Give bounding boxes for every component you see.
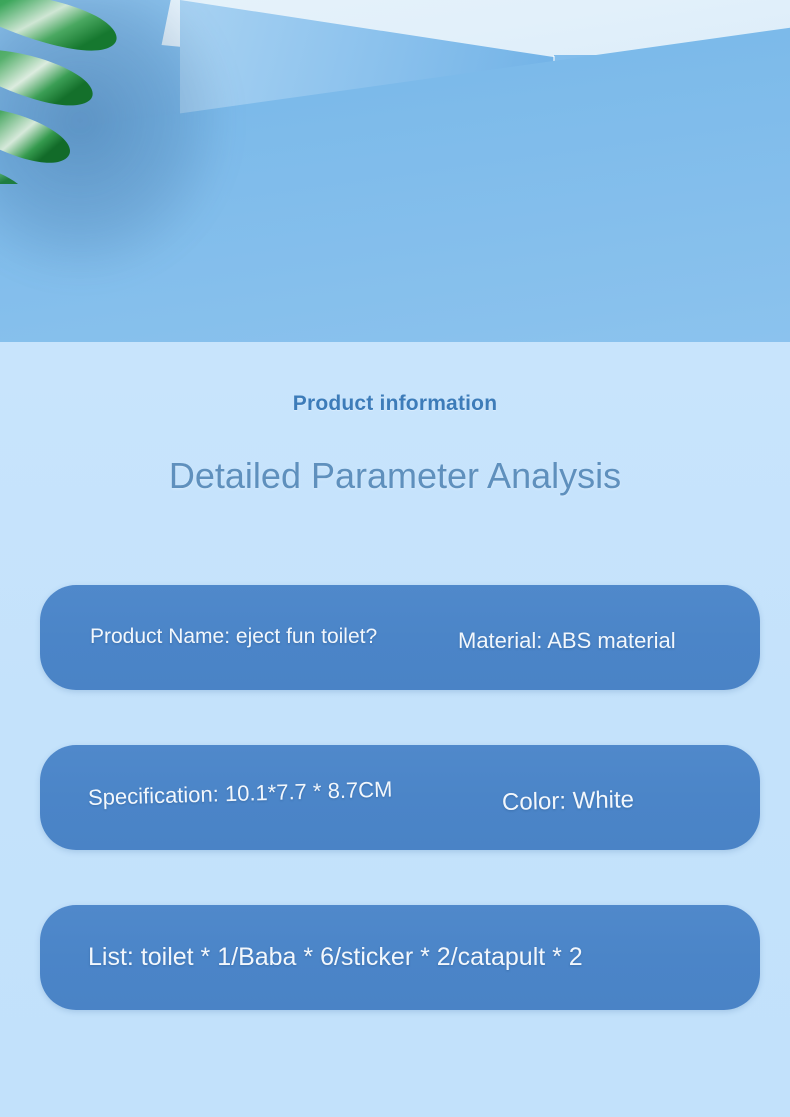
page-title: Detailed Parameter Analysis xyxy=(0,455,790,497)
color-value: Color: White xyxy=(502,786,635,817)
hero-product-photo xyxy=(0,0,790,342)
product-detail-page: Product information Detailed Parameter A… xyxy=(0,0,790,1117)
parameter-card-list: Product Name: eject fun toilet? Material… xyxy=(40,585,760,1065)
monstera-leaf-icon xyxy=(0,0,158,186)
package-list-value: List: toilet * 1/Baba * 6/sticker * 2/ca… xyxy=(88,943,583,972)
material-value: Material: ABS material xyxy=(458,628,676,654)
product-name-value: Product Name: eject fun toilet? xyxy=(90,625,377,649)
parameter-card: Specification: 10.1*7.7 * 8.7CM Color: W… xyxy=(40,745,760,850)
section-eyebrow: Product information xyxy=(0,392,790,416)
product-information-section: Product information Detailed Parameter A… xyxy=(0,342,790,1117)
specification-value: Specification: 10.1*7.7 * 8.7CM xyxy=(88,777,393,811)
parameter-card: List: toilet * 1/Baba * 6/sticker * 2/ca… xyxy=(40,905,760,1010)
parameter-card: Product Name: eject fun toilet? Material… xyxy=(40,585,760,690)
